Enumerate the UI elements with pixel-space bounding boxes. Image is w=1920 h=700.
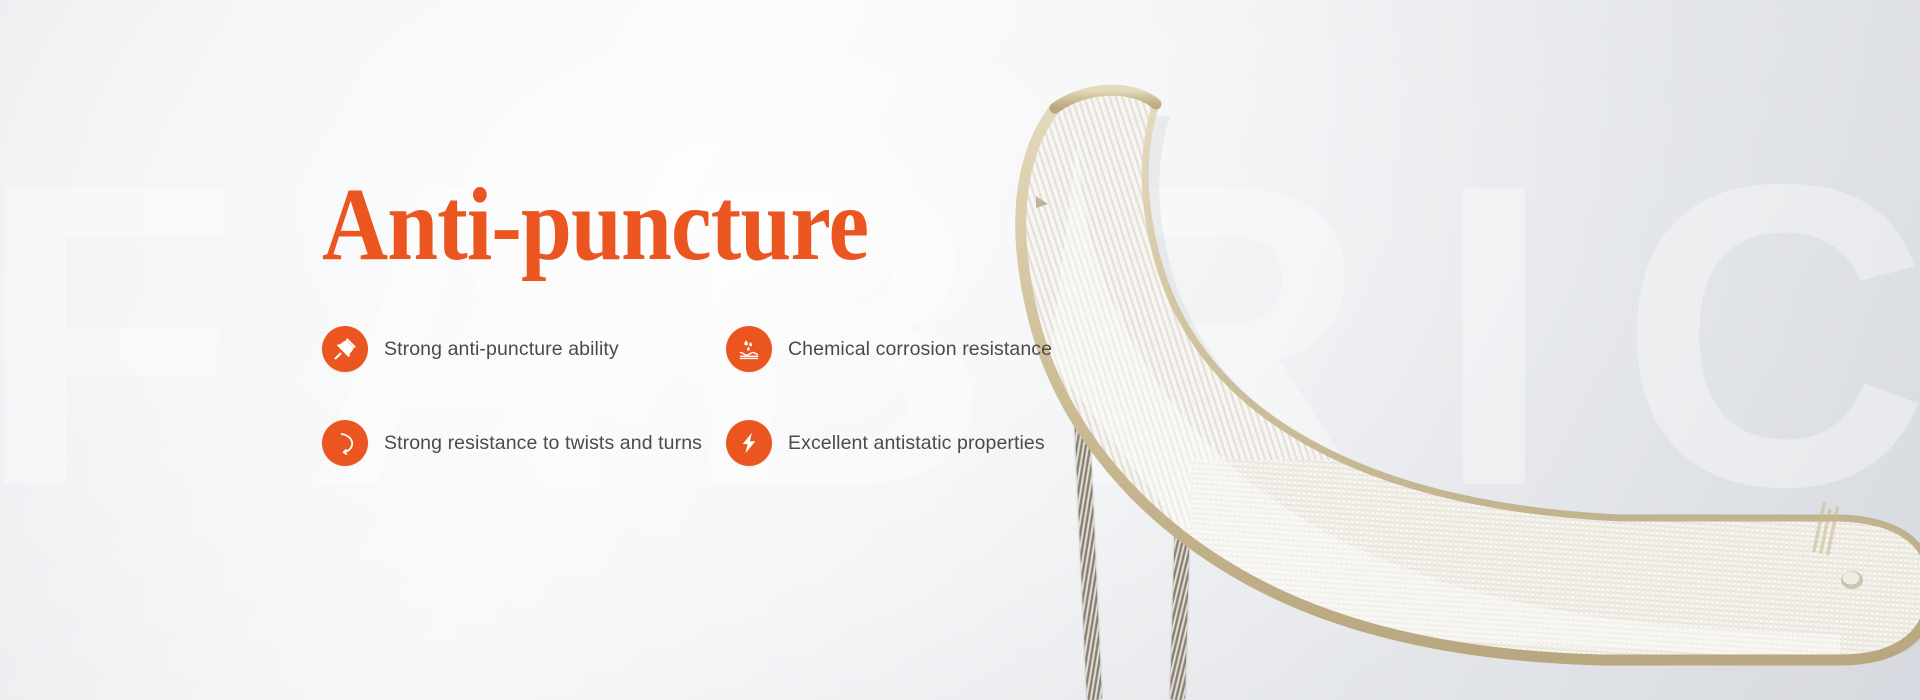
feature-label-twist-resistance: Strong resistance to twists and turns [384,432,702,455]
feature-item-chemical-corrosion[interactable]: Chemical corrosion resistance [726,326,1052,372]
product-photo [1020,60,1920,700]
watermark-letter-f: F [0,121,245,551]
feature-item-antistatic[interactable]: Excellent antistatic properties [726,420,1052,466]
feature-list: Strong anti-puncture ability Chemical co… [322,326,1052,466]
anti-puncture-insole-shape [960,60,1920,700]
feature-label-anti-puncture: Strong anti-puncture ability [384,338,619,361]
page-title: Anti-puncture [322,170,964,280]
droplets-on-surface-icon [726,326,772,372]
lightning-bolt-icon [726,420,772,466]
rotation-arrow-icon [322,420,368,466]
pushpin-icon [322,326,368,372]
feature-label-antistatic: Excellent antistatic properties [788,432,1045,455]
copy-block: Anti-puncture Strong anti-puncture abili… [322,170,1052,466]
feature-label-chemical-corrosion: Chemical corrosion resistance [788,338,1052,361]
feature-item-twist-resistance[interactable]: Strong resistance to twists and turns [322,420,726,466]
feature-item-anti-puncture[interactable]: Strong anti-puncture ability [322,326,726,372]
product-feature-banner: F A B R I C [0,0,1920,700]
